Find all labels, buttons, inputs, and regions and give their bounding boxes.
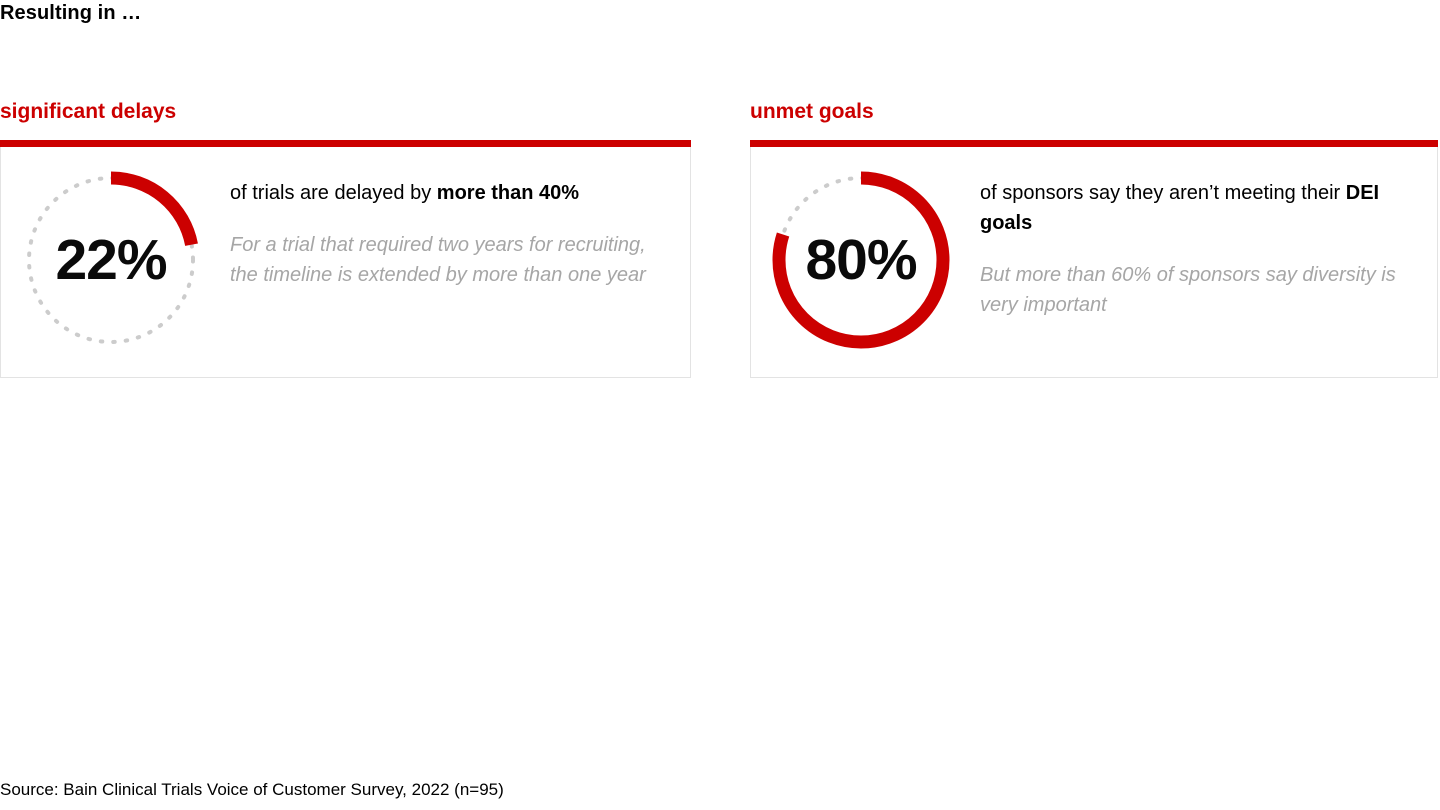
source-note: Source: Bain Clinical Trials Voice of Cu…	[0, 780, 504, 800]
card-accent-rule	[750, 140, 1438, 147]
stat-sentence-plain: of sponsors say they aren’t meeting thei…	[980, 182, 1346, 204]
stat-card-unmet-goals: unmet goals 80% of sponsors say they are…	[750, 100, 1438, 378]
card-accent-rule	[0, 140, 691, 147]
card-text-column: of trials are delayed by more than 40% F…	[211, 147, 690, 290]
page-title: Resulting in …	[0, 2, 141, 25]
donut-chart-80: 80%	[761, 160, 961, 360]
card-body: 80% of sponsors say they aren’t meeting …	[750, 147, 1438, 378]
card-text-column: of sponsors say they aren’t meeting thei…	[961, 147, 1437, 320]
stat-sentence: of trials are delayed by more than 40%	[230, 178, 660, 208]
stat-note: For a trial that required two years for …	[230, 230, 660, 290]
card-heading: significant delays	[0, 100, 691, 124]
donut-value-label: 22%	[11, 160, 211, 360]
stat-sentence: of sponsors say they aren’t meeting thei…	[980, 178, 1410, 238]
donut-chart-22: 22%	[11, 160, 211, 360]
donut-value-label: 80%	[761, 160, 961, 360]
stat-note: But more than 60% of sponsors say divers…	[980, 260, 1410, 320]
card-heading: unmet goals	[750, 100, 1438, 124]
stat-sentence-plain: of trials are delayed by	[230, 182, 437, 204]
card-body: 22% of trials are delayed by more than 4…	[0, 147, 691, 378]
stat-card-significant-delays: significant delays 22% of trials are del…	[0, 100, 691, 378]
stat-sentence-emphasis: more than 40%	[437, 182, 579, 204]
